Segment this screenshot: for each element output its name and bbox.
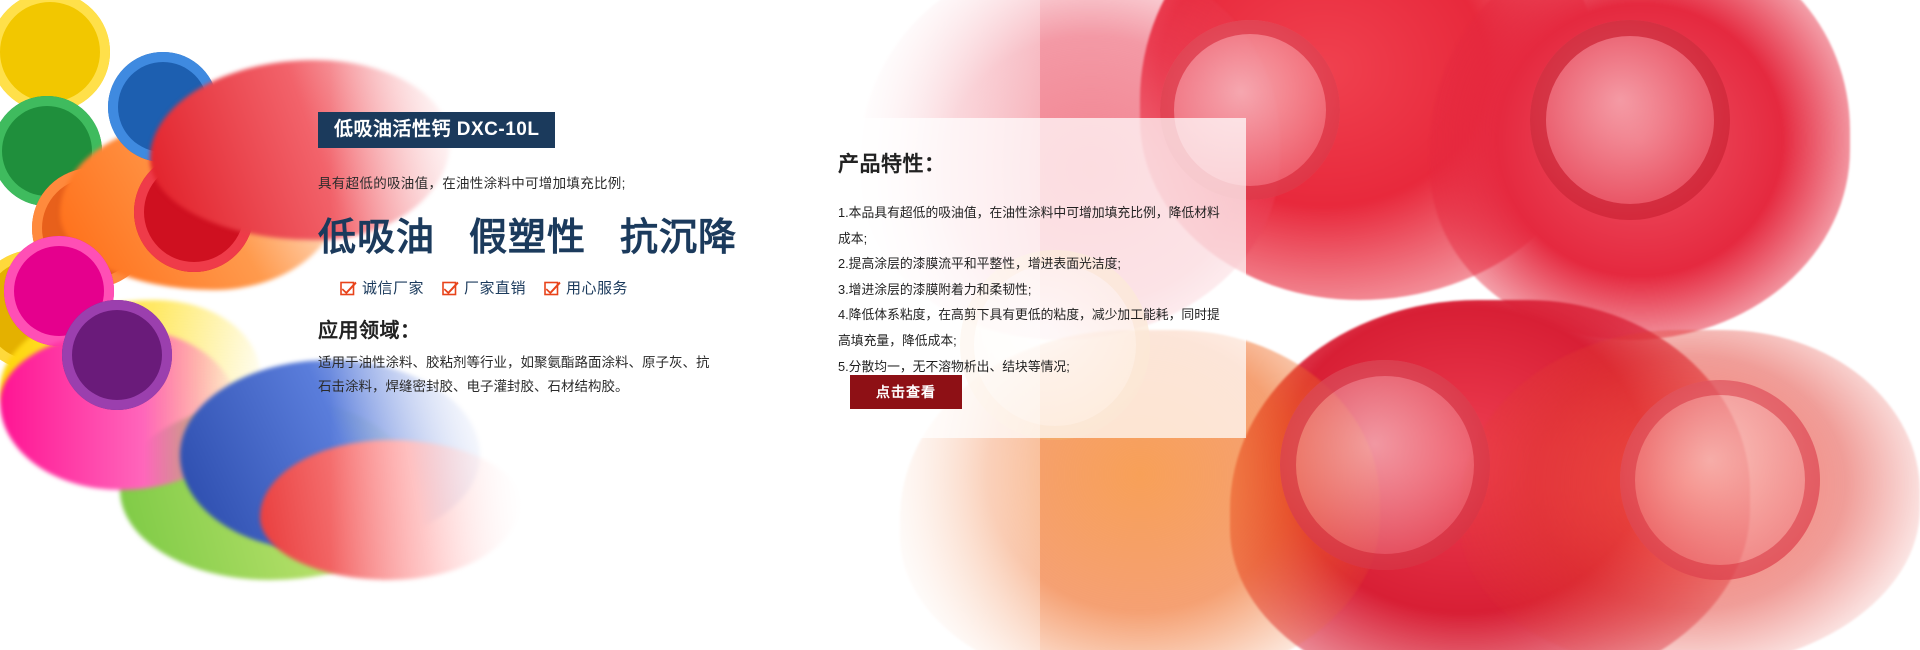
application-area-title: 应用领域： [318, 314, 718, 343]
feature-item: 2.提高涂层的漆膜流平和平整性，增进表面光洁度; [838, 251, 1220, 277]
trust-tag: 诚信厂家 [340, 277, 424, 298]
headline-word-2: 假塑性 [469, 206, 586, 261]
checkbox-checked-icon [340, 280, 356, 296]
trust-tag: 厂家直销 [442, 277, 526, 298]
headline-keywords: 低吸油 假塑性 抗沉降 [318, 206, 718, 261]
trust-tag-label: 厂家直销 [464, 277, 526, 298]
application-area-body: 适用于油性涂料、胶粘剂等行业，如聚氨酯路面涂料、原子灰、抗石击涂料，焊缝密封胶、… [318, 351, 718, 398]
headline-word-3: 抗沉降 [620, 206, 737, 261]
features-panel-title: 产品特性： [838, 148, 1220, 178]
headline-word-1: 低吸油 [318, 206, 435, 261]
view-details-button[interactable]: 点击查看 [850, 375, 962, 409]
product-banner: 低吸油活性钙 DXC-10L 具有超低的吸油值，在油性涂料中可增加填充比例; 低… [0, 0, 1920, 650]
trust-tag: 用心服务 [544, 277, 628, 298]
product-title-badge: 低吸油活性钙 DXC-10L [318, 112, 555, 148]
feature-item: 1.本品具有超低的吸油值，在油性涂料中可增加填充比例，降低材料成本; [838, 200, 1220, 251]
trust-tag-label: 诚信厂家 [362, 277, 424, 298]
feature-item: 3.增进涂层的漆膜附着力和柔韧性; [838, 277, 1220, 303]
trust-tag-label: 用心服务 [566, 277, 628, 298]
feature-item: 4.降低体系粘度，在高剪下具有更低的粘度，减少加工能耗，同时提高填充量，降低成本… [838, 302, 1220, 353]
checkbox-checked-icon [544, 280, 560, 296]
trust-tag-list: 诚信厂家 厂家直销 用心服务 [318, 277, 718, 298]
product-subline: 具有超低的吸油值，在油性涂料中可增加填充比例; [318, 172, 718, 192]
features-list: 1.本品具有超低的吸油值，在油性涂料中可增加填充比例，降低材料成本; 2.提高涂… [838, 200, 1220, 379]
left-content-column: 低吸油活性钙 DXC-10L 具有超低的吸油值，在油性涂料中可增加填充比例; 低… [318, 112, 718, 398]
checkbox-checked-icon [442, 280, 458, 296]
